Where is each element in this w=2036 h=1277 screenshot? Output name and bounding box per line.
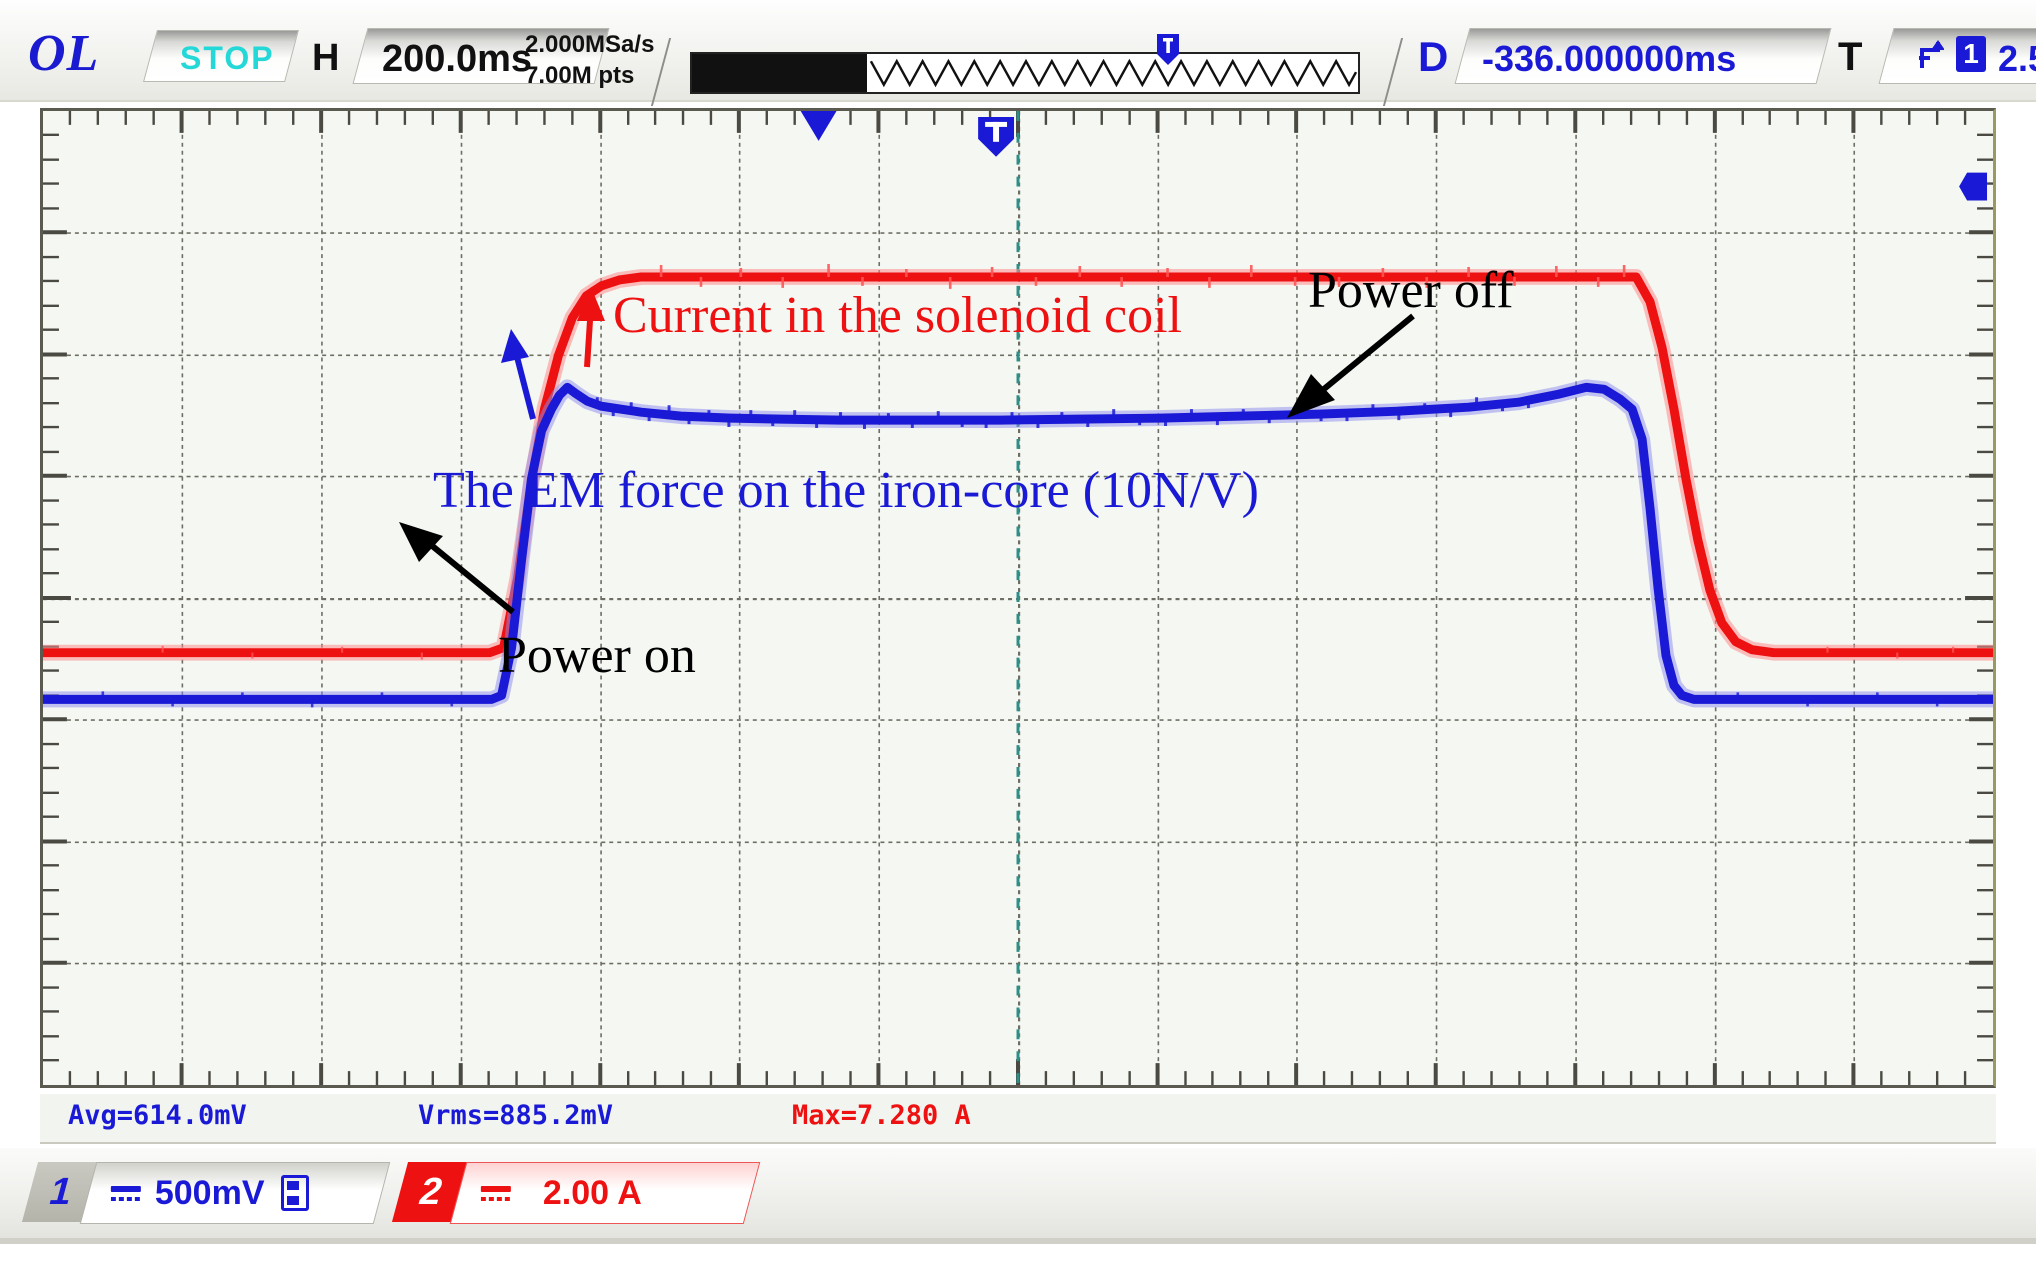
oscilloscope-screen: OL STOP H 200.0ms 2.000MSa/s 7.00M pts D… — [0, 0, 2036, 1277]
bottom-divider — [0, 1238, 2036, 1244]
horizontal-label: H — [312, 37, 339, 80]
timebase-value: 200.0ms — [382, 38, 532, 81]
memory-depth-value: 7.00M pts — [525, 62, 634, 90]
channel-1-settings[interactable]: 500mV — [80, 1162, 391, 1224]
bandwidth-limit-icon — [281, 1175, 309, 1211]
memory-waveform-preview — [692, 54, 1358, 92]
dc-coupling-icon — [111, 1186, 141, 1201]
channel-2-scale: 2.00 A — [543, 1174, 642, 1213]
channel-status-bar: 1 500mV 2 2.00 A — [0, 1148, 2036, 1243]
channel-1[interactable]: 1 500mV — [30, 1162, 370, 1222]
measurement-vrms[interactable]: Vrms=885.2mV — [418, 1100, 613, 1131]
trigger-level-value: 2.5 — [1998, 38, 2036, 80]
memory-position-bar[interactable] — [690, 52, 1360, 94]
trigger-label: T — [1838, 35, 1862, 80]
power-off-arrow-icon — [1261, 306, 1421, 436]
channel-1-scale: 500mV — [155, 1174, 265, 1213]
trigger-source-value: 1 — [1963, 38, 1979, 70]
run-state-label: STOP — [180, 40, 275, 77]
waveform-display-area[interactable]: Current in the solenoid coil The EM forc… — [40, 108, 1996, 1088]
trigger-source-badge: 1 — [1956, 36, 1986, 72]
sample-rate-value: 2.000MSa/s — [525, 31, 654, 59]
measurement-readout-bar: Avg=614.0mV Vrms=885.2mV Max=7.280 A — [40, 1094, 1996, 1144]
channel-2[interactable]: 2 2.00 A — [400, 1162, 740, 1222]
measurement-avg[interactable]: Avg=614.0mV — [68, 1100, 247, 1131]
dc-coupling-icon — [481, 1186, 511, 1201]
rising-edge-icon — [1918, 38, 1944, 72]
delay-label: D — [1418, 33, 1448, 81]
power-on-arrow-icon — [381, 516, 521, 626]
trigger-position-marker-icon — [978, 117, 1014, 157]
trigger-markers-layer — [43, 111, 1993, 1085]
ch1-ground-marker-icon — [1959, 173, 1987, 201]
channel-2-settings[interactable]: 2.00 A — [450, 1162, 761, 1224]
brand-logo: OL — [28, 24, 99, 83]
delay-position-marker-icon — [801, 111, 837, 141]
top-status-bar: OL STOP H 200.0ms 2.000MSa/s 7.00M pts D… — [0, 0, 2036, 102]
delay-value: -336.000000ms — [1482, 38, 1736, 80]
em-force-annotation-arrow-icon — [493, 307, 563, 427]
memory-trigger-marker-icon — [1155, 32, 1181, 66]
measurement-max[interactable]: Max=7.280 A — [792, 1100, 971, 1131]
